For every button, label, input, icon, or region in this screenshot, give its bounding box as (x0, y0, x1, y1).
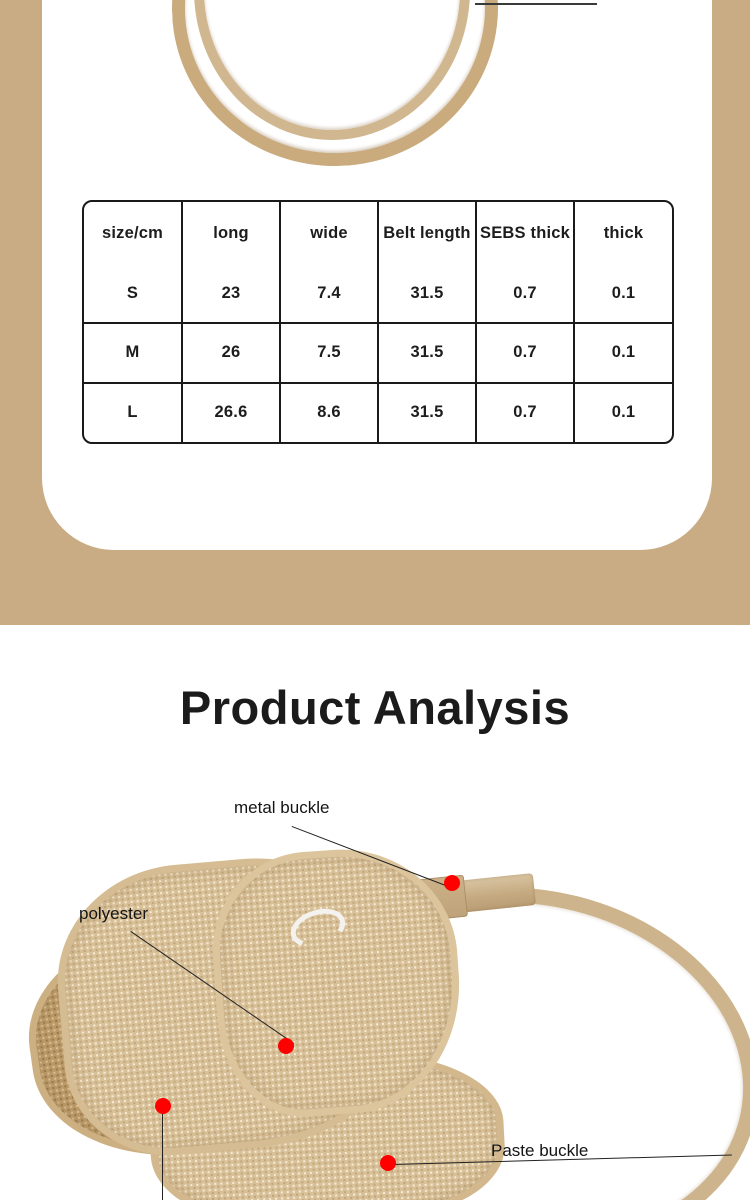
table-header-row: size/cm long wide Belt length SEBS thick… (84, 202, 672, 264)
spec-section: size/cm long wide Belt length SEBS thick… (0, 0, 750, 625)
cell-sebs-thick: 0.7 (476, 264, 574, 323)
cell-belt-length: 31.5 (378, 264, 476, 323)
section-title: Product Analysis (0, 680, 750, 735)
size-chart-body: S 23 7.4 31.5 0.7 0.1 M 26 7.5 31.5 0.7 … (84, 264, 672, 442)
header-sebs-thick: SEBS thick (476, 202, 574, 264)
size-chart-table: size/cm long wide Belt length SEBS thick… (82, 200, 674, 444)
cell-wide: 7.5 (280, 323, 378, 382)
cell-thick: 0.1 (574, 323, 672, 382)
cell-long: 26 (182, 323, 280, 382)
size-chart-head: size/cm long wide Belt length SEBS thick… (84, 202, 672, 264)
annotation-dot-paste-buckle (380, 1155, 396, 1171)
brace-product-photo (0, 830, 750, 1200)
strap-product-photo (42, 0, 712, 170)
cell-size: S (84, 264, 182, 323)
cell-sebs-thick: 0.7 (476, 323, 574, 382)
cell-size: L (84, 383, 182, 442)
size-chart-grid: size/cm long wide Belt length SEBS thick… (84, 202, 672, 442)
cell-belt-length: 31.5 (378, 383, 476, 442)
header-size: size/cm (84, 202, 182, 264)
cell-long: 26.6 (182, 383, 280, 442)
header-wide: wide (280, 202, 378, 264)
annotation-dot-polyester (278, 1038, 294, 1054)
table-row: L 26.6 8.6 31.5 0.7 0.1 (84, 383, 672, 442)
header-belt-length: Belt length (378, 202, 476, 264)
cell-long: 23 (182, 264, 280, 323)
cell-sebs-thick: 0.7 (476, 383, 574, 442)
strap-leader-line (475, 3, 597, 5)
annotation-label-polyester: polyester (79, 904, 148, 924)
annotation-dot-metal-buckle (444, 875, 460, 891)
table-row: M 26 7.5 31.5 0.7 0.1 (84, 323, 672, 382)
cell-thick: 0.1 (574, 264, 672, 323)
cell-belt-length: 31.5 (378, 323, 476, 382)
cell-wide: 7.4 (280, 264, 378, 323)
annotation-line-third (162, 1114, 163, 1200)
annotation-label-metal-buckle: metal buckle (234, 798, 329, 818)
header-thick: thick (574, 202, 672, 264)
header-long: long (182, 202, 280, 264)
table-row: S 23 7.4 31.5 0.7 0.1 (84, 264, 672, 323)
annotation-dot-third (155, 1098, 171, 1114)
cell-size: M (84, 323, 182, 382)
cell-wide: 8.6 (280, 383, 378, 442)
cell-thick: 0.1 (574, 383, 672, 442)
